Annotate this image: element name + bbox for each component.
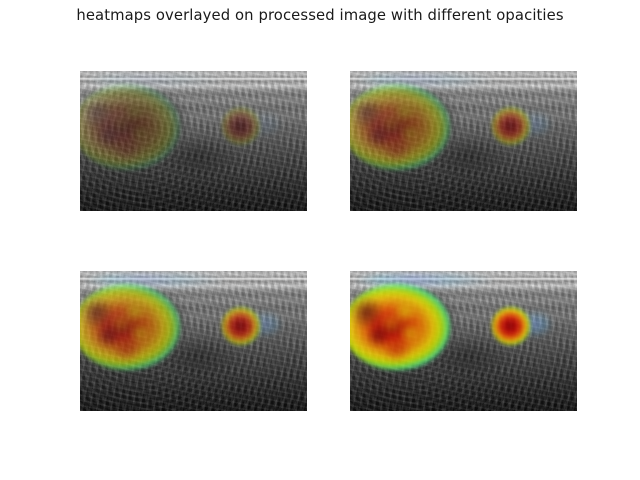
heatmap-panel-top-right[interactable] (350, 71, 577, 211)
heatmap-blob-primary-mottle (350, 84, 450, 171)
heatmap-overlay (80, 271, 307, 411)
heatmap-blob-secondary-lesion (222, 107, 261, 145)
heatmap-top-band (355, 274, 496, 287)
heatmap-panel-top-left[interactable] (80, 71, 307, 211)
heatmap-blob-primary-mottle (350, 284, 450, 371)
heatmap-panel-bottom-right[interactable] (350, 271, 577, 411)
figure-suptitle: heatmaps overlayed on processed image wi… (0, 7, 640, 24)
figure-canvas: heatmaps overlayed on processed image wi… (0, 0, 640, 480)
heatmap-panel-bottom-left[interactable] (80, 271, 307, 411)
heatmap-overlay (80, 71, 307, 211)
heatmap-blob-secondary-lesion (222, 307, 261, 345)
heatmap-blob-secondary-lesion (492, 307, 531, 345)
heatmap-top-band (85, 274, 226, 287)
heatmap-blob-secondary-lesion (492, 107, 531, 145)
heatmap-top-band (85, 74, 226, 87)
heatmap-top-band (355, 74, 496, 87)
heatmap-blob-primary-mottle (80, 284, 180, 371)
heatmap-blob-primary-mottle (80, 84, 180, 171)
heatmap-overlay (350, 271, 577, 411)
heatmap-overlay (350, 71, 577, 211)
